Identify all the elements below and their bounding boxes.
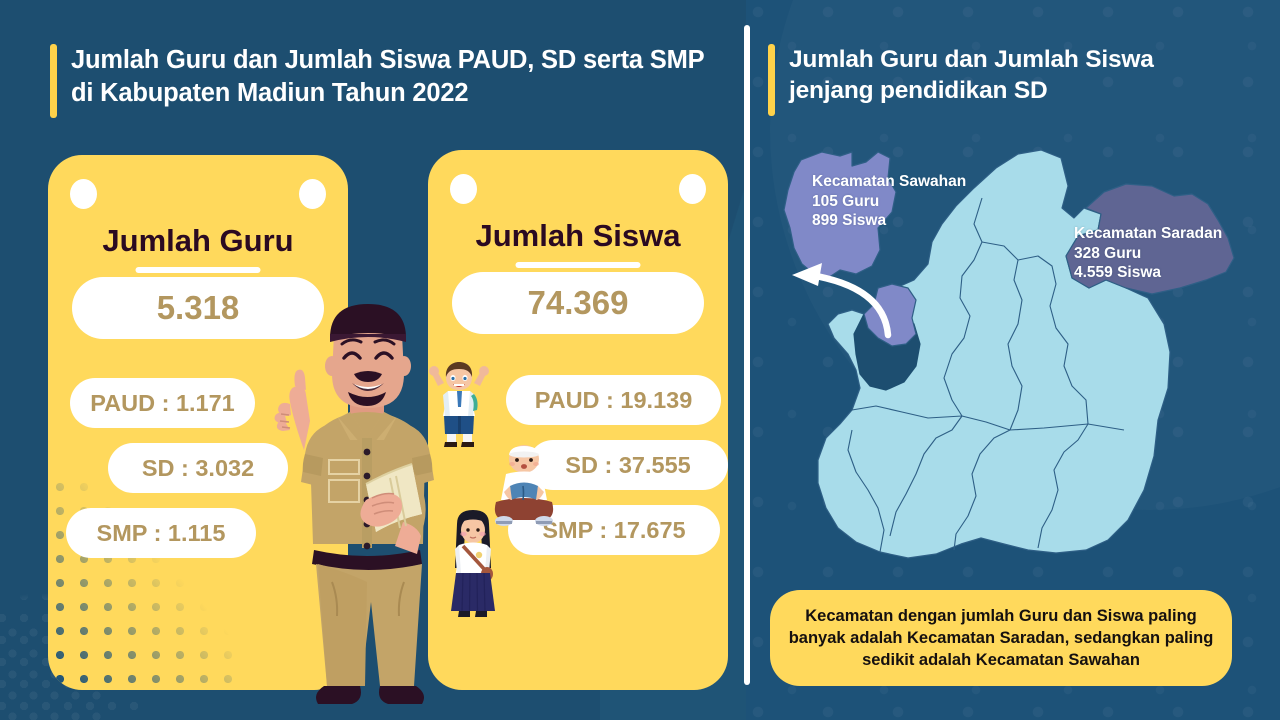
map-label-saradan-name: Kecamatan Saradan <box>1074 224 1222 244</box>
card-row-paud-guru: PAUD : 1.171 <box>70 378 255 428</box>
left-title-text: Jumlah Guru dan Jumlah Siswa PAUD, SD se… <box>71 44 710 109</box>
title-accent-bar <box>768 44 775 116</box>
card-hole-right-icon <box>679 174 706 204</box>
title-accent-bar <box>50 44 57 118</box>
right-section-title: Jumlah Guru dan Jumlah Siswa jenjang pen… <box>768 44 1238 116</box>
card-row-sd-guru: SD : 3.032 <box>108 443 288 493</box>
card-hole-right-icon <box>299 179 326 209</box>
conclusion-text: Kecamatan dengan jumlah Guru dan Siswa p… <box>788 605 1214 672</box>
card-row-paud-siswa: PAUD : 19.139 <box>506 375 721 425</box>
section-divider <box>744 25 750 685</box>
map-label-sawahan-guru: 105 Guru <box>812 192 966 212</box>
map-label-sawahan-siswa: 899 Siswa <box>812 211 966 231</box>
card-row-smp-guru: SMP : 1.115 <box>66 508 256 558</box>
conclusion-box: Kecamatan dengan jumlah Guru dan Siswa p… <box>770 590 1232 686</box>
card-hole-left-icon <box>450 174 477 204</box>
map-label-saradan: Kecamatan Saradan 328 Guru 4.559 Siswa <box>1074 224 1222 283</box>
card-total-siswa: 74.369 <box>452 272 704 334</box>
card-title-guru: Jumlah Guru <box>48 223 348 259</box>
infographic-canvas: Jumlah Guru dan Jumlah Siswa PAUD, SD se… <box>0 0 1280 720</box>
card-hole-left-icon <box>70 179 97 209</box>
map-callout-arrow-icon <box>770 230 920 340</box>
map-label-sawahan-name: Kecamatan Sawahan <box>812 172 966 192</box>
left-section-title: Jumlah Guru dan Jumlah Siswa PAUD, SD se… <box>50 44 710 118</box>
map-label-saradan-siswa: 4.559 Siswa <box>1074 263 1222 283</box>
map-label-saradan-guru: 328 Guru <box>1074 244 1222 264</box>
card-title-siswa: Jumlah Siswa <box>428 218 728 254</box>
card-title-underline <box>136 267 261 273</box>
student-girl-illustration <box>443 508 503 620</box>
card-title-underline <box>516 262 641 268</box>
right-title-text: Jumlah Guru dan Jumlah Siswa jenjang pen… <box>789 44 1238 107</box>
map-label-sawahan: Kecamatan Sawahan 105 Guru 899 Siswa <box>812 172 966 231</box>
